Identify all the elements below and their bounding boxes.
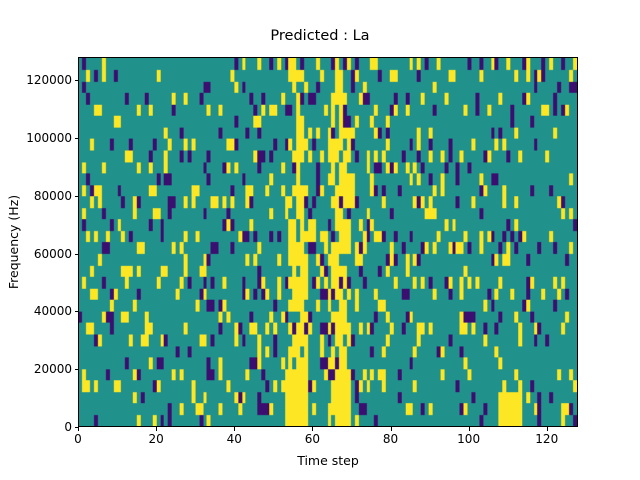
x-tick-label: 0: [74, 433, 82, 445]
x-tick-label: 120: [535, 433, 558, 445]
y-tick-mark: [75, 369, 79, 370]
heatmap-axes: [78, 57, 578, 427]
y-tick-mark: [75, 138, 79, 139]
y-tick-label: 40000: [34, 305, 72, 317]
y-tick-mark: [75, 196, 79, 197]
x-tick-mark: [78, 427, 79, 431]
x-tick-mark: [547, 427, 548, 431]
y-tick-label: 120000: [26, 74, 72, 86]
y-tick-label: 20000: [34, 363, 72, 375]
y-tick-mark: [75, 427, 79, 428]
x-tick-label: 80: [383, 433, 398, 445]
x-tick-label: 60: [305, 433, 320, 445]
y-tick-label: 100000: [26, 132, 72, 144]
x-tick-label: 40: [227, 433, 242, 445]
y-tick-label: 60000: [34, 248, 72, 260]
y-tick-label: 80000: [34, 190, 72, 202]
y-tick-label: 0: [64, 421, 72, 433]
x-tick-label: 100: [457, 433, 480, 445]
x-tick-mark: [312, 427, 313, 431]
x-tick-mark: [469, 427, 470, 431]
x-tick-mark: [234, 427, 235, 431]
y-axis-label: Frequency (Hz): [8, 195, 21, 289]
y-tick-mark: [75, 254, 79, 255]
x-tick-mark: [156, 427, 157, 431]
x-tick-label: 20: [148, 433, 163, 445]
spectrogram-heatmap: [79, 58, 577, 426]
y-tick-mark: [75, 311, 79, 312]
matplotlib-figure: Predicted : La 0204060801001200200004000…: [0, 0, 640, 480]
y-tick-mark: [75, 80, 79, 81]
page-title: Predicted : La: [0, 29, 640, 44]
x-tick-mark: [391, 427, 392, 431]
x-axis-label: Time step: [78, 455, 578, 468]
